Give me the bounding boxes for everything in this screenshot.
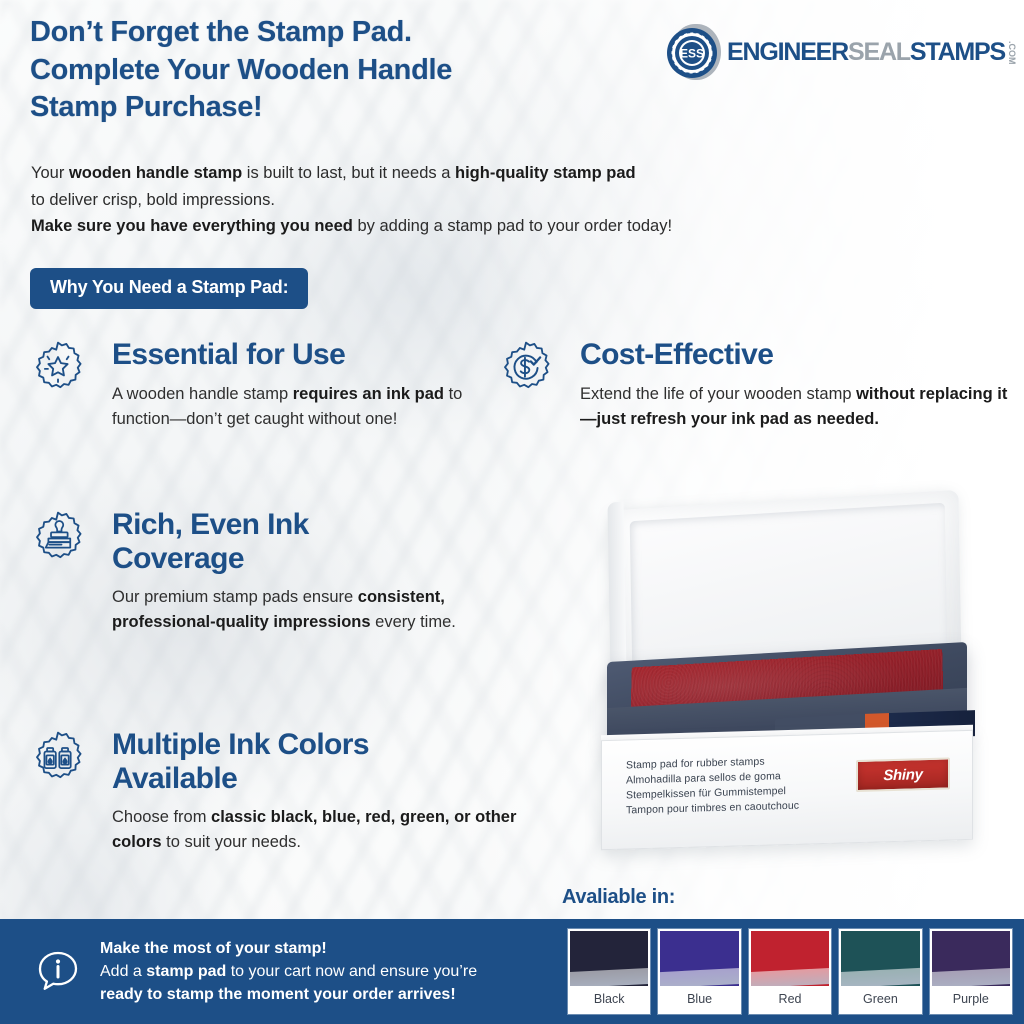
feature-text: Our premium stamp pads ensure (112, 588, 358, 606)
swatch-label: Black (570, 986, 648, 1012)
logo-word-dotcom: .COM (1007, 41, 1016, 65)
star-badge-icon (30, 340, 86, 396)
cta-text-segment: Add a (100, 963, 146, 980)
intro-emphasis: high-quality stamp pad (455, 164, 636, 182)
swatch-blue[interactable]: Blue (658, 929, 740, 1014)
swatch-color-chip (570, 931, 648, 986)
intro-emphasis: Make sure you have everything you need (31, 217, 353, 235)
swatch-label: Purple (932, 986, 1010, 1012)
feature-title-line-1: Multiple Ink Colors (112, 728, 530, 762)
feature-cost-effective: Cost-Effective Extend the life of your w… (498, 338, 1024, 432)
feature-body: Essential for Use A wooden handle stamp … (100, 338, 490, 432)
logo-monogram: ESS (680, 47, 704, 61)
feature-text: to suit your needs. (162, 833, 301, 851)
intro-text: Your (31, 164, 69, 182)
feature-title: Cost-Effective (580, 338, 1018, 372)
feature-body: Cost-Effective Extend the life of your w… (568, 338, 1018, 432)
swatch-black[interactable]: Black (568, 929, 650, 1014)
feature-body: Rich, Even Ink Coverage Our premium stam… (100, 508, 490, 635)
intro-paragraph: Your wooden handle stamp is built to las… (31, 160, 931, 240)
cta-text: Make the most of your stamp! Add a stamp… (100, 937, 477, 1006)
cta-text-segment: to your cart now and ensure you’re (226, 963, 477, 980)
info-speech-bubble-icon (34, 948, 82, 996)
stamp-pad-lid-edge (608, 502, 627, 675)
cta-emphasis: ready to stamp the moment your order arr… (100, 986, 456, 1003)
intro-line-1: Your wooden handle stamp is built to las… (31, 160, 931, 187)
gear-seal-icon: ESS (665, 26, 719, 80)
feature-description: Our premium stamp pads ensure consistent… (112, 585, 490, 635)
logo-word-seal: SEAL (848, 40, 910, 65)
feature-title: Rich, Even Ink Coverage (112, 508, 490, 575)
swatch-color-chip (751, 931, 829, 986)
feature-emphasis: requires an ink pad (293, 385, 444, 403)
cta-line-1: Make the most of your stamp! (100, 937, 477, 960)
intro-emphasis: wooden handle stamp (69, 164, 242, 182)
feature-multiple-ink-colors: Multiple Ink Colors Available Choose fro… (30, 728, 540, 855)
intro-text: by adding a stamp pad to your order toda… (353, 217, 672, 235)
swatch-red[interactable]: Red (749, 929, 831, 1014)
feature-description: Choose from classic black, blue, red, gr… (112, 805, 530, 855)
shiny-brand-logo: Shiny (856, 757, 950, 792)
header: Don’t Forget the Stamp Pad. Complete You… (30, 14, 1020, 127)
swatch-green[interactable]: Green (839, 929, 921, 1014)
feature-title-line-2: Available (112, 762, 530, 796)
intro-line-3: Make sure you have everything you need b… (31, 213, 931, 240)
headline-line-3: Stamp Purchase! (30, 89, 655, 127)
swatch-color-chip (841, 931, 919, 986)
logo-word-stamps: STAMPS (910, 40, 1005, 65)
feature-text: A wooden handle stamp (112, 385, 293, 403)
page-title: Don’t Forget the Stamp Pad. Complete You… (30, 14, 655, 127)
rubber-stamp-badge-icon (30, 510, 86, 566)
feature-title: Multiple Ink Colors Available (112, 728, 530, 795)
headline-line-1: Don’t Forget the Stamp Pad. (30, 14, 655, 52)
feature-title: Essential for Use (112, 338, 490, 372)
product-box-text: Stamp pad for rubber stamps Almohadilla … (626, 754, 799, 818)
logo-word-engineer: ENGINEER (727, 40, 848, 65)
feature-title-line-2: Coverage (112, 542, 490, 576)
logo-wordmark: ENGINEER SEAL STAMPS .COM (727, 40, 1016, 65)
feature-text: every time. (371, 613, 456, 631)
feature-description: Extend the life of your wooden stamp wit… (580, 382, 1018, 432)
swatch-label: Red (751, 986, 829, 1012)
swatch-label: Blue (660, 986, 738, 1012)
swatch-color-chip (660, 931, 738, 986)
infographic-page: Don’t Forget the Stamp Pad. Complete You… (0, 0, 1024, 1024)
available-in-title: Avaliable in: (562, 886, 675, 909)
dollar-check-badge-icon (498, 340, 554, 396)
product-box: Stamp pad for rubber stamps Almohadilla … (601, 730, 973, 850)
cta-emphasis: stamp pad (146, 963, 226, 980)
why-banner: Why You Need a Stamp Pad: (30, 268, 308, 309)
intro-text: is built to last, but it needs a (242, 164, 455, 182)
swatch-purple[interactable]: Purple (930, 929, 1012, 1014)
intro-line-2: to deliver crisp, bold impressions. (31, 187, 931, 214)
feature-essential-for-use: Essential for Use A wooden handle stamp … (30, 338, 495, 432)
cta-line-3: ready to stamp the moment your order arr… (100, 983, 477, 1006)
headline-line-2: Complete Your Wooden Handle (30, 52, 655, 90)
feature-text: Choose from (112, 808, 211, 826)
feature-body: Multiple Ink Colors Available Choose fro… (100, 728, 530, 855)
feature-text: Extend the life of your wooden stamp (580, 385, 856, 403)
cta-line-2: Add a stamp pad to your cart now and ens… (100, 960, 477, 983)
cta-bar: Make the most of your stamp! Add a stamp… (0, 919, 556, 1024)
brand-logo[interactable]: ESS ENGINEER SEAL STAMPS .COM (665, 24, 1016, 80)
swatch-label: Green (841, 986, 919, 1012)
feature-title-line-1: Rich, Even Ink (112, 508, 490, 542)
feature-rich-even-ink-coverage: Rich, Even Ink Coverage Our premium stam… (30, 508, 495, 635)
swatch-color-chip (932, 931, 1010, 986)
feature-description: A wooden handle stamp requires an ink pa… (112, 382, 490, 432)
logo-badge: ESS (665, 24, 721, 80)
ink-bottles-badge-icon (30, 730, 86, 786)
color-swatch-strip: Black Blue Red Green Purple (556, 919, 1024, 1024)
product-photo: Stamp pad for rubber stamps Almohadilla … (575, 490, 1005, 890)
